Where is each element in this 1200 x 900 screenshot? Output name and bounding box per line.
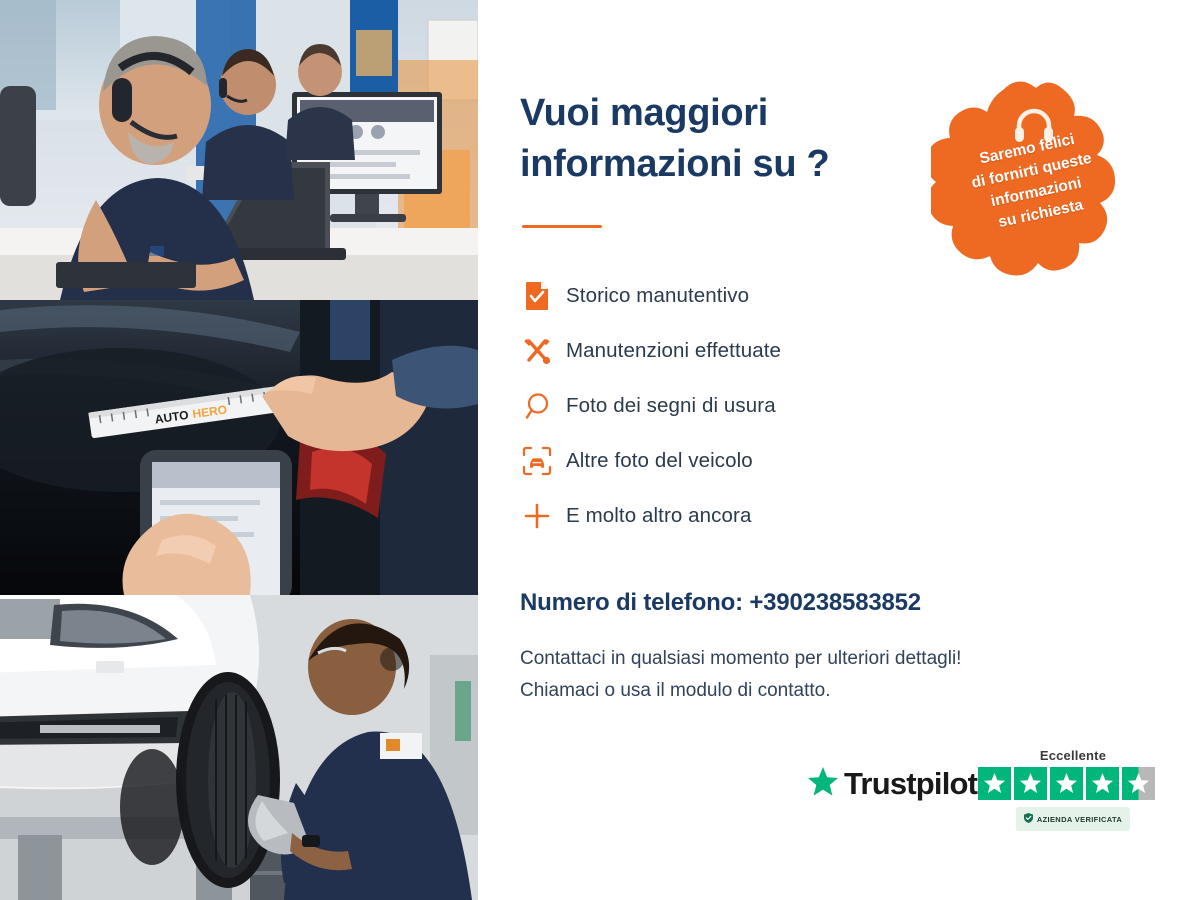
plus-icon xyxy=(508,502,566,530)
page-title: Vuoi maggiori informazioni su ? xyxy=(520,88,950,189)
rating-word: Eccellente xyxy=(978,748,1168,763)
phone-number-heading: Numero di telefono: +390238583852 xyxy=(520,589,1140,617)
contact-description: Contattaci in qualsiasi momento per ulte… xyxy=(520,643,1160,707)
feature-list: Storico manutentivo Manutenzioni effettu… xyxy=(508,268,948,543)
trustpilot-wordmark: Trustpilot xyxy=(844,766,977,802)
contact-line-2: Chiamaci o usa il modulo di contatto. xyxy=(520,675,1160,707)
title-divider xyxy=(522,225,602,228)
trustpilot-logo: Trustpilot xyxy=(808,766,977,802)
request-info-badge: Saremo felici di fornirti queste informa… xyxy=(931,78,1136,293)
call-center-agents-photo xyxy=(0,0,478,300)
phone-label: Numero di telefono: xyxy=(520,589,743,616)
headline-line-2: informazioni su ? xyxy=(520,139,950,190)
photo-column: AUTO HERO xyxy=(0,0,478,900)
star-icon-half xyxy=(1122,767,1155,800)
star-rating xyxy=(978,767,1168,800)
feature-label: Foto dei segni di usura xyxy=(566,394,776,418)
verified-label: AZIENDA VERIFICATA xyxy=(1037,815,1122,824)
magnifier-icon xyxy=(508,392,566,420)
tools-wrench-screwdriver-icon xyxy=(508,336,566,366)
headline-line-1: Vuoi maggiori xyxy=(520,92,768,134)
feature-label: Altre foto del veicolo xyxy=(566,449,753,473)
trustpilot-rating: Eccellente xyxy=(978,748,1168,831)
trustpilot-widget[interactable]: Trustpilot Eccellente xyxy=(808,748,1168,848)
feature-item-manutenzioni: Manutenzioni effettuate xyxy=(508,323,948,378)
feature-item-altro-ancora: E molto altro ancora xyxy=(508,488,948,543)
trustpilot-star-icon xyxy=(808,767,838,801)
status-badge: AZIENDA VERIFICATA xyxy=(1016,807,1130,831)
feature-item-storico: Storico manutentivo xyxy=(508,268,948,323)
phone-number[interactable]: +390238583852 xyxy=(749,589,921,616)
feature-item-foto-usura: Foto dei segni di usura xyxy=(508,378,948,433)
shield-check-icon xyxy=(1024,810,1033,828)
promo-banner: AUTO HERO xyxy=(0,0,1200,900)
feature-label: Storico manutentivo xyxy=(566,284,749,308)
contact-line-1: Contattaci in qualsiasi momento per ulte… xyxy=(520,643,1160,675)
mechanic-wheel-photo xyxy=(0,595,478,900)
feature-item-altre-foto: Altre foto del veicolo xyxy=(508,433,948,488)
document-check-icon xyxy=(508,281,566,311)
star-icon xyxy=(1086,767,1119,800)
content-column: Vuoi maggiori informazioni su ? Saremo f… xyxy=(478,0,1200,900)
feature-label: E molto altro ancora xyxy=(566,504,751,528)
star-icon xyxy=(1014,767,1047,800)
vehicle-inspection-photo: AUTO HERO xyxy=(0,300,478,595)
star-icon xyxy=(978,767,1011,800)
feature-label: Manutenzioni effettuate xyxy=(566,339,781,363)
car-focus-frame-icon xyxy=(508,446,566,476)
star-icon xyxy=(1050,767,1083,800)
